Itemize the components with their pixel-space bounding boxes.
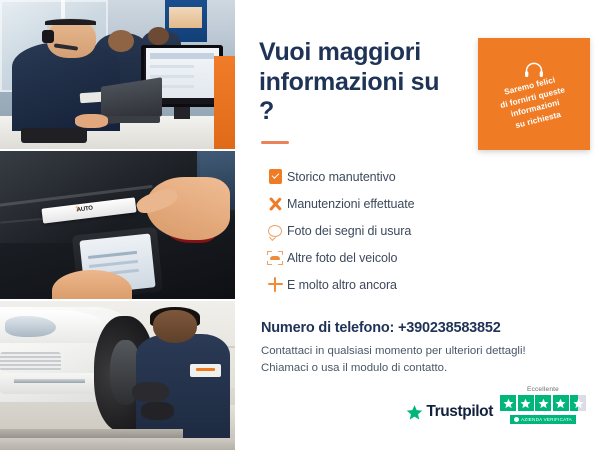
feature-label: Manutenzioni effettuate — [287, 197, 414, 211]
car-frame-icon — [263, 251, 287, 265]
car-grille — [0, 352, 61, 371]
advertisement-banner: AUTO1 — [0, 0, 600, 450]
contact-subtext-line-2: Chiamaci o usa il modulo di contatto. — [261, 362, 447, 374]
mechanic-glove-2 — [141, 402, 174, 420]
trustpilot-rating-label: Eccellente — [527, 386, 559, 393]
headset-earcup — [42, 30, 54, 43]
list-item: E molto altro ancora — [263, 272, 578, 298]
monitor-stand — [174, 107, 190, 119]
title-underline-rule — [261, 141, 289, 144]
garage-floor — [0, 438, 235, 450]
feature-label: E molto altro ancora — [287, 278, 397, 292]
verified-check-icon — [514, 417, 519, 422]
verified-company-badge: AZIENDA VERIFICATA — [510, 415, 576, 424]
trustpilot-wordmark: Trustpilot — [426, 403, 493, 421]
car-headlight — [5, 316, 57, 337]
trustpilot-logo: Trustpilot — [406, 403, 493, 424]
feature-label: Foto dei segni di usura — [287, 224, 411, 238]
trustpilot-star-icon — [406, 404, 423, 421]
uniform-logo-badge — [190, 364, 221, 377]
page-title: Vuoi maggiori informazioni su ? — [259, 38, 459, 127]
orange-panel-accent — [214, 56, 235, 148]
star-filled — [500, 395, 516, 411]
contact-block: Numero di telefono: +390238583852 Contat… — [261, 320, 578, 377]
callout-seal-badge: Saremo felici di fornirti queste informa… — [478, 38, 590, 150]
bumper-chrome-trim — [14, 379, 85, 383]
contact-subtext: Contattaci in qualsiasi momento per ulte… — [261, 343, 578, 377]
wall-poster — [169, 7, 202, 28]
car-bumper — [0, 373, 103, 394]
mechanic-wheel-photo — [0, 301, 235, 450]
trustpilot-rating-block: Eccellente AZIENDA VERIFICATA — [500, 386, 586, 424]
agent-head-2 — [108, 30, 134, 52]
photo-strip: AUTO1 — [0, 0, 235, 450]
mechanic-glove-1 — [132, 382, 170, 403]
content-panel: Vuoi maggiori informazioni su ? Saremo f… — [235, 0, 600, 450]
checklist-icon — [263, 169, 287, 184]
phone-number[interactable]: +390238583852 — [398, 320, 501, 336]
list-item: Manutenzioni effettuate — [263, 191, 578, 217]
call-center-agents-photo — [0, 0, 235, 149]
contact-subtext-line-1: Contattaci in qualsiasi momento per ulte… — [261, 345, 526, 357]
typing-hand — [75, 114, 108, 127]
trustpilot-stars — [500, 395, 586, 411]
star-partial — [570, 395, 586, 411]
agent-head-1 — [47, 19, 96, 58]
sticker-logo-text: AUTO1 — [76, 206, 80, 212]
feature-label: Storico manutentivo — [287, 170, 396, 184]
headline-line-1: Vuoi maggiori — [259, 38, 421, 66]
trustpilot-widget[interactable]: Trustpilot Eccellente AZIENDA VERIFICATA — [406, 386, 586, 424]
phone-line: Numero di telefono: +390238583852 — [261, 320, 578, 336]
car-sticker-inspection-photo: AUTO1 — [0, 151, 235, 300]
headset-band — [45, 19, 97, 25]
feature-list: Storico manutentivo Manutenzioni effettu… — [263, 164, 578, 298]
headline-line-2: informazioni su ? — [259, 68, 439, 126]
seal-text: Saremo felici di fornirti queste informa… — [488, 70, 581, 136]
headset-icon — [524, 62, 544, 78]
star-filled — [518, 395, 534, 411]
tools-cross-icon — [263, 196, 287, 212]
star-filled — [535, 395, 551, 411]
list-item: Altre foto del veicolo — [263, 245, 578, 271]
list-item: Foto dei segni di usura — [263, 218, 578, 244]
verified-label: AZIENDA VERIFICATA — [521, 417, 572, 422]
desk-tablet — [21, 128, 87, 143]
search-bubble-icon — [263, 225, 287, 237]
star-filled — [553, 395, 569, 411]
phone-label: Numero di telefono: — [261, 320, 394, 336]
feature-label: Altre foto del veicolo — [287, 251, 397, 265]
list-item: Storico manutentivo — [263, 164, 578, 190]
agent-head-3 — [148, 27, 169, 45]
plus-icon — [263, 277, 287, 292]
mechanic-head — [153, 310, 198, 343]
